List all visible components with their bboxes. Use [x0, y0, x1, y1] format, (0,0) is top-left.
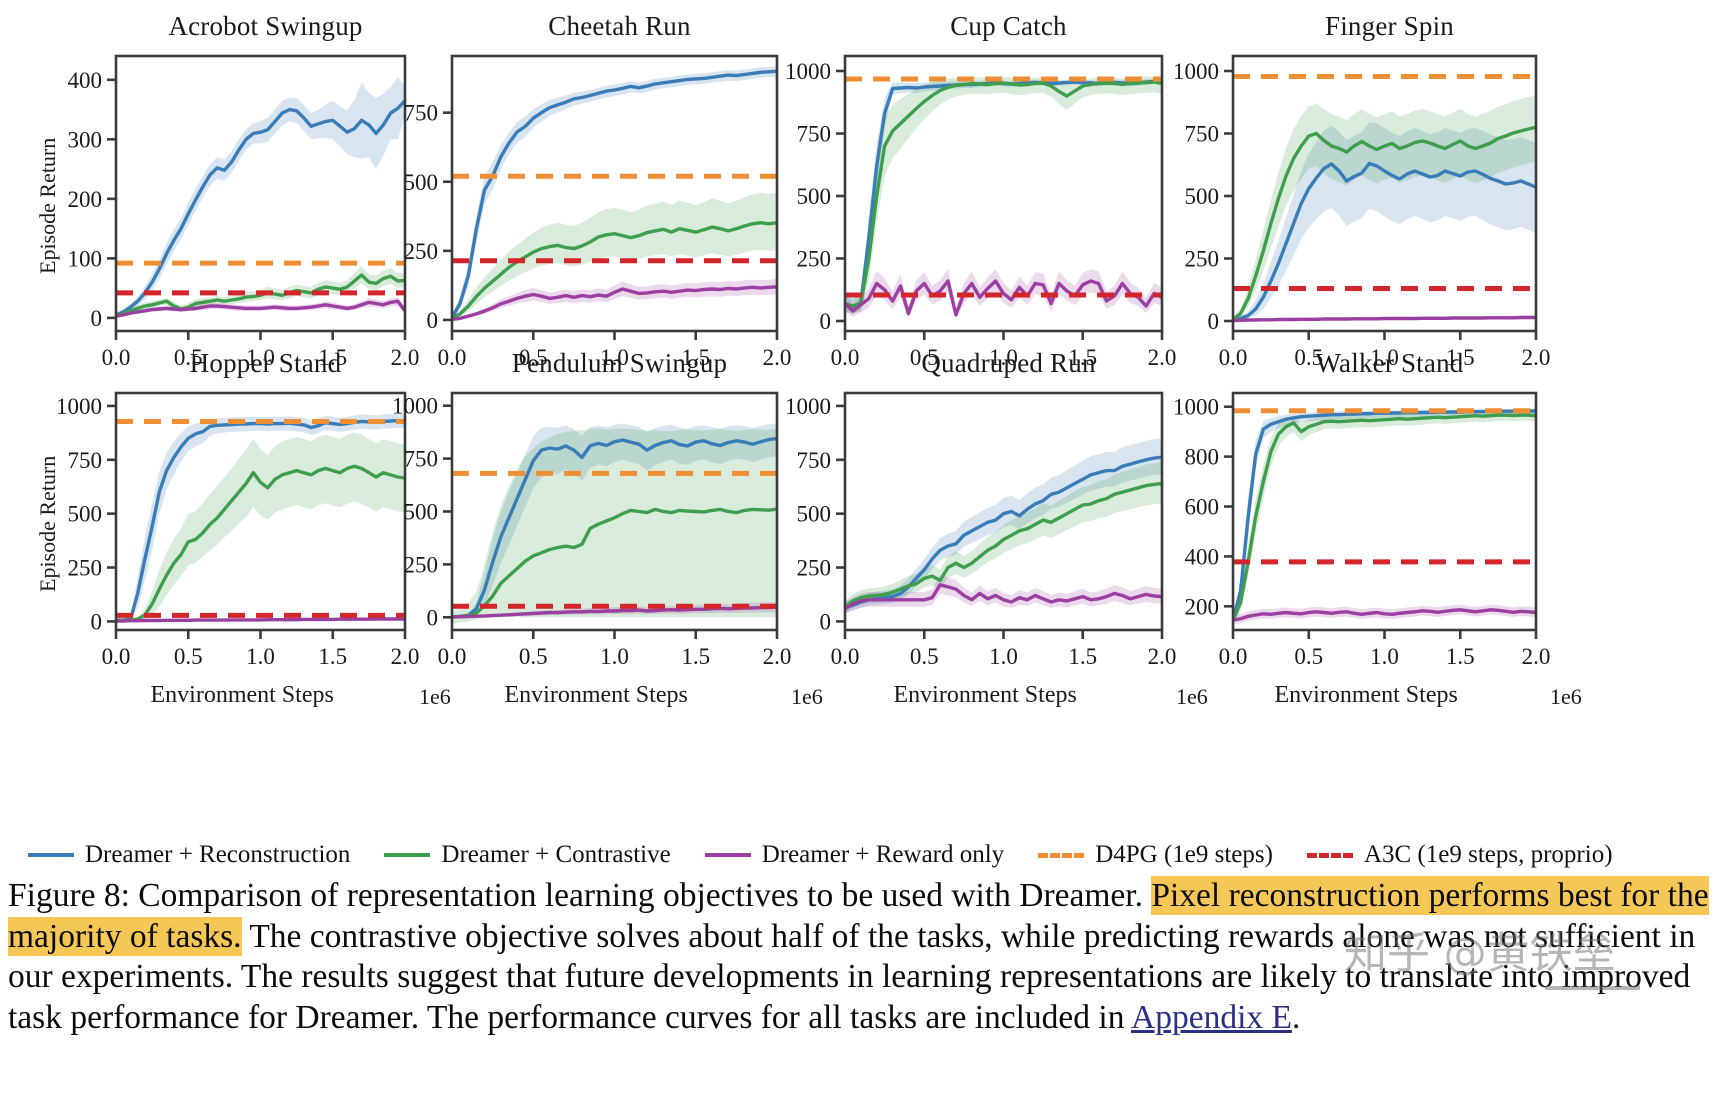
y-axis-tick-label: 750	[797, 448, 832, 473]
x-axis-tick-label: 0.0	[438, 644, 467, 669]
y-axis-tick-label: 250	[797, 556, 832, 581]
y-axis-tick-label: 0	[427, 308, 439, 333]
legend-item: Dreamer + Reconstruction	[28, 841, 350, 869]
chart-panel: Finger Spin025050075010000.00.51.01.52.0	[1138, 11, 1571, 396]
legend-swatch-line	[384, 853, 430, 857]
y-axis-tick-label: 750	[404, 101, 439, 126]
chart-confidence-band	[452, 429, 777, 624]
y-axis-tick-label: 400	[1185, 544, 1220, 569]
appendix-e-link[interactable]: Appendix E	[1131, 999, 1292, 1036]
y-axis-tick-label: 250	[1185, 247, 1220, 272]
y-axis-tick-label: 0	[91, 609, 103, 634]
y-axis-tick-label: 0	[820, 609, 832, 634]
caption-prefix: Figure 8: Comparison of representation l…	[8, 877, 1151, 914]
chart-svg: 02505007500.00.51.01.52.0	[357, 11, 812, 396]
y-axis-tick-label: 500	[1185, 184, 1220, 209]
legend-item: Dreamer + Contrastive	[384, 841, 670, 869]
x-axis-label: Environment Steps	[894, 682, 1077, 709]
figure-caption: Figure 8: Comparison of representation l…	[8, 876, 1724, 1038]
chart-svg: 025050075010000.00.51.01.52.0	[750, 348, 1197, 695]
y-axis-tick-label: 400	[68, 68, 103, 93]
y-axis-tick-label: 600	[1185, 495, 1220, 520]
legend-label: Dreamer + Contrastive	[441, 841, 670, 869]
legend-label: A3C (1e9 steps, proprio)	[1364, 841, 1613, 869]
y-axis-tick-label: 800	[1185, 445, 1220, 470]
x-axis-tick-label: 1.0	[246, 644, 275, 669]
chart-series-line	[1233, 318, 1536, 321]
chart-panel: Pendulum Swingup025050075010000.00.51.01…	[357, 348, 812, 695]
legend-swatch-dashed	[1307, 853, 1353, 858]
legend-item: A3C (1e9 steps, proprio)	[1307, 841, 1613, 869]
y-axis-tick-label: 250	[68, 556, 103, 581]
y-axis-tick-label: 1000	[1173, 59, 1219, 84]
chart-svg: 025050075010000.00.51.01.52.0	[1138, 11, 1571, 396]
figure-legend: Dreamer + ReconstructionDreamer + Contra…	[0, 836, 1729, 874]
x-axis-tick-label: 0.5	[910, 644, 939, 669]
chart-panel: Cup Catch025050075010000.00.51.01.52.0	[750, 11, 1197, 396]
y-axis-tick-label: 250	[404, 239, 439, 264]
legend-swatch-line	[28, 853, 74, 857]
legend-item: Dreamer + Reward only	[705, 841, 1004, 869]
x-axis-tick-label: 0.5	[1294, 644, 1323, 669]
x-axis-tick-label: 0.5	[519, 644, 548, 669]
y-axis-tick-label: 750	[797, 122, 832, 147]
y-axis-tick-label: 750	[1185, 122, 1220, 147]
y-axis-tick-label: 250	[404, 552, 439, 577]
y-axis-tick-label: 1000	[392, 394, 438, 419]
x-axis-tick-label: 0.0	[831, 644, 860, 669]
legend-swatch-dashed	[1038, 853, 1084, 858]
x-axis-tick-label: 1.0	[600, 644, 629, 669]
x-axis-tick-label: 0.0	[1219, 644, 1248, 669]
chart-svg: 025050075010000.00.51.01.52.0	[750, 11, 1197, 396]
chart-confidence-band	[845, 76, 1162, 313]
x-axis-label: Environment Steps	[1275, 682, 1458, 709]
legend-label: Dreamer + Reconstruction	[85, 841, 350, 869]
y-axis-tick-label: 500	[404, 500, 439, 525]
y-axis-label: Episode Return	[35, 455, 61, 591]
caption-middle: The contrastive objective solves about h…	[8, 918, 1695, 1036]
x-axis-tick-label: 1.5	[318, 644, 347, 669]
x-axis-exponent: 1e6	[1550, 684, 1582, 710]
y-axis-tick-label: 500	[797, 502, 832, 527]
chart-panel: Cheetah Run02505007500.00.51.01.52.0	[357, 11, 812, 396]
chart-svg: 20040060080010000.00.51.01.52.0	[1138, 348, 1571, 695]
x-axis-tick-label: 2.0	[1522, 644, 1551, 669]
x-axis-tick-label: 1.0	[1370, 644, 1399, 669]
chart-panel: Quadruped Run025050075010000.00.51.01.52…	[750, 348, 1197, 695]
x-axis-label: Environment Steps	[151, 682, 334, 709]
y-axis-tick-label: 300	[68, 127, 103, 152]
y-axis-tick-label: 750	[68, 448, 103, 473]
x-axis-tick-label: 1.5	[1068, 644, 1097, 669]
y-axis-tick-label: 1000	[785, 59, 831, 84]
y-axis-tick-label: 0	[91, 306, 103, 331]
y-axis-tick-label: 200	[1185, 594, 1220, 619]
y-axis-tick-label: 500	[404, 170, 439, 195]
y-axis-tick-label: 1000	[56, 394, 102, 419]
y-axis-tick-label: 500	[68, 502, 103, 527]
chart-panel: Walker Stand20040060080010000.00.51.01.5…	[1138, 348, 1571, 695]
y-axis-label: Episode Return	[35, 137, 61, 273]
y-axis-tick-label: 750	[404, 447, 439, 472]
legend-item: D4PG (1e9 steps)	[1038, 841, 1273, 869]
x-axis-tick-label: 0.5	[174, 644, 203, 669]
y-axis-tick-label: 250	[797, 247, 832, 272]
caption-suffix: .	[1292, 999, 1300, 1036]
x-axis-tick-label: 1.0	[989, 644, 1018, 669]
y-axis-tick-label: 0	[427, 605, 439, 630]
x-axis-tick-label: 1.5	[681, 644, 710, 669]
chart-confidence-band	[1233, 411, 1536, 624]
y-axis-tick-label: 1000	[1173, 395, 1219, 420]
y-axis-tick-label: 1000	[785, 394, 831, 419]
x-axis-label: Environment Steps	[505, 682, 688, 709]
chart-svg: 025050075010000.00.51.01.52.0	[357, 348, 812, 695]
y-axis-tick-label: 0	[820, 309, 832, 334]
y-axis-tick-label: 100	[68, 246, 103, 271]
x-axis-tick-label: 1.5	[1446, 644, 1475, 669]
legend-label: D4PG (1e9 steps)	[1095, 841, 1273, 869]
legend-swatch-line	[705, 853, 751, 857]
y-axis-tick-label: 500	[797, 184, 832, 209]
legend-label: Dreamer + Reward only	[762, 841, 1004, 869]
y-axis-tick-label: 200	[68, 187, 103, 212]
y-axis-tick-label: 0	[1208, 309, 1220, 334]
x-axis-tick-label: 0.0	[102, 644, 131, 669]
